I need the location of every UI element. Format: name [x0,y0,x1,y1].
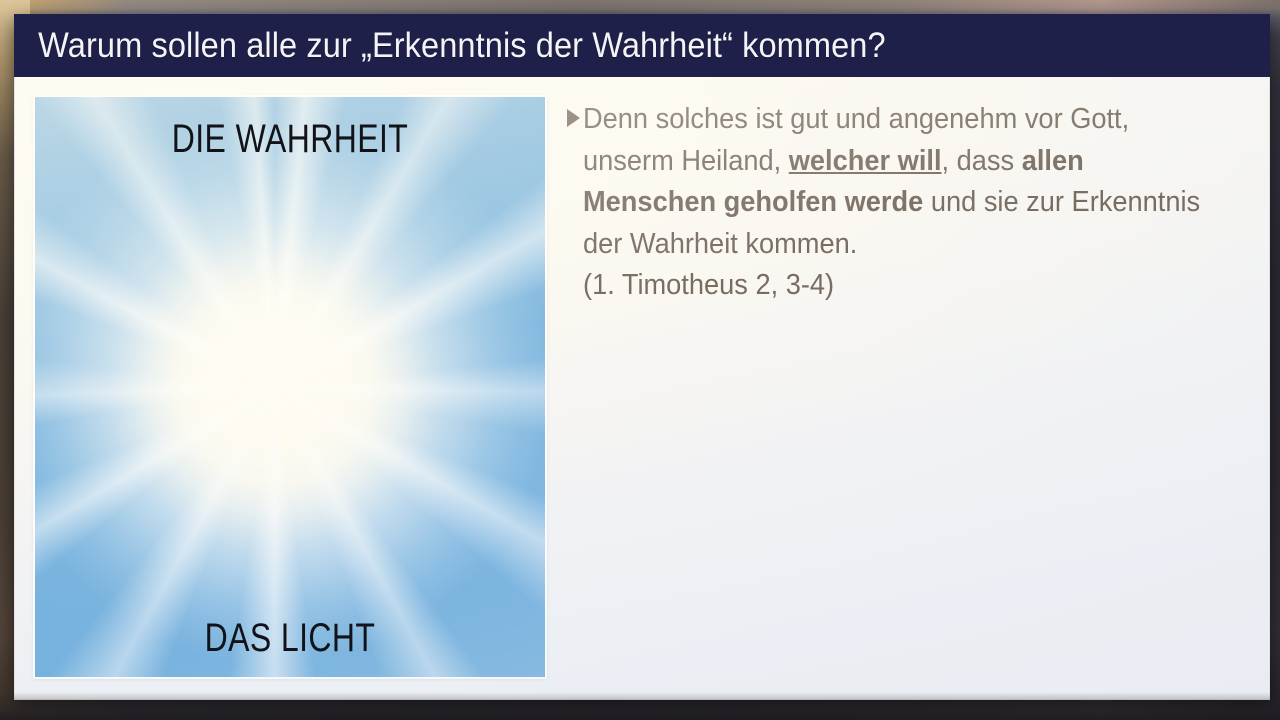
picture-caption-bottom: DAS LICHT [86,616,494,661]
triangle-bullet-icon [567,109,580,127]
picture-caption-top: DIE WAHRHEIT [86,117,494,162]
desktop-backdrop: Warum sollen alle zur „Erkenntnis der Wa… [0,0,1280,720]
slide-title-bar: Warum sollen alle zur „Erkenntnis der Wa… [14,14,1270,77]
scripture-text: Denn solches ist gut und angenehm vor Go… [583,99,1215,307]
scripture-segment-1: welcher will [789,145,942,177]
scripture-reference: (1. Timotheus 2, 3-4) [583,265,1215,307]
sunburst-sky-image: DIE WAHRHEIT DAS LICHT [35,97,545,677]
bullet-row: Denn solches ist gut und angenehm vor Go… [567,99,1245,307]
content-text-block: Denn solches ist gut und angenehm vor Go… [567,99,1245,307]
presentation-slide: Warum sollen alle zur „Erkenntnis der Wa… [14,14,1270,700]
scripture-rich-text: Denn solches ist gut und angenehm vor Go… [583,103,1200,260]
slide-title: Warum sollen alle zur „Erkenntnis der Wa… [14,26,886,66]
picture-frame: DIE WAHRHEIT DAS LICHT [33,95,547,679]
scripture-segment-2: , dass [942,145,1022,177]
slide-body: DIE WAHRHEIT DAS LICHT Denn solches ist … [14,77,1270,700]
